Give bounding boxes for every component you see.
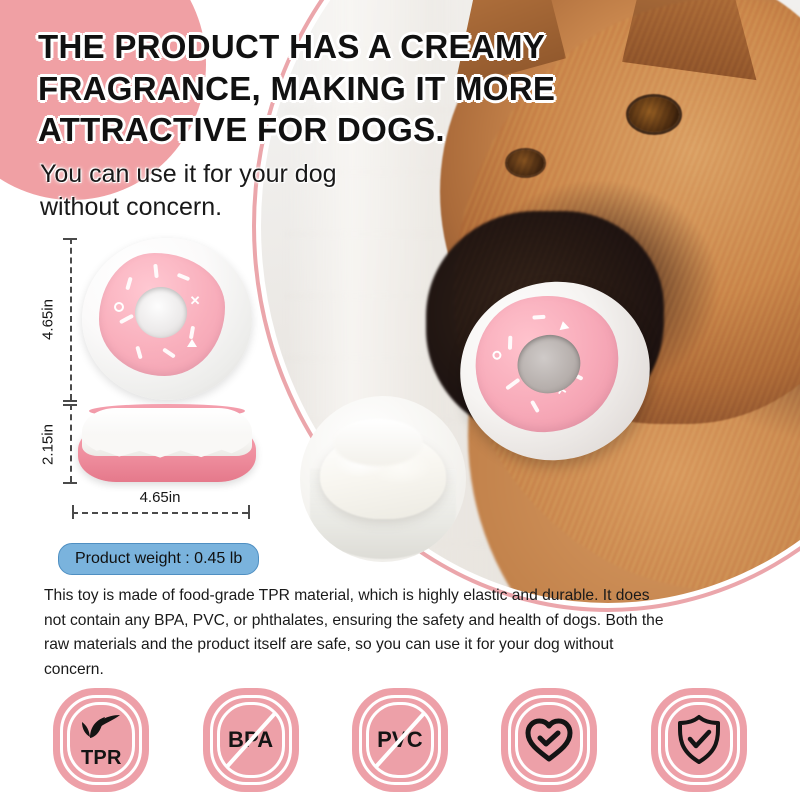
badge-label-tpr: TPR [81,748,122,768]
dim-cap-height-top [63,238,77,240]
cream-swirl-highlight [333,419,423,465]
badge-tpr: TPR [53,688,149,792]
dim-cap-height-bottom [63,400,77,402]
donut-toy-side-view [78,404,256,482]
heart-check-icon [524,717,574,763]
dim-label-height: 4.65in [40,290,57,350]
donut-toy-top-view: ✕ [82,238,252,400]
dim-line-depth [70,404,72,482]
leaf-icon [79,713,123,745]
dim-line-width [72,512,248,514]
dim-cap-width-left [72,505,74,519]
dim-cap-width-right [248,505,250,519]
dim-line-height [70,238,72,400]
product-weight-badge: Product weight : 0.45 lb [58,543,259,575]
dim-label-depth: 2.15in [40,415,57,475]
page-subtitle: You can use it for your dog without conc… [40,158,400,224]
badge-bpa-free: BPA [203,688,299,792]
product-infographic: ✕ THE PRODUCT HAS A CREAMY FRAGRANCE, MA… [0,0,800,800]
dim-label-width: 4.65in [72,489,248,506]
shield-check-icon [676,714,722,766]
badge-health-safe [501,688,597,792]
badge-quality-assured [651,688,747,792]
product-description: This toy is made of food-grade TPR mater… [44,584,664,683]
cream-photo-inset [300,396,466,562]
badge-pvc-free: PVC [352,688,448,792]
page-title: THE PRODUCT HAS A CREAMY FRAGRANCE, MAKI… [38,26,658,151]
dim-cap-depth-bottom [63,482,77,484]
certification-badge-row: TPR BPA PVC [0,684,800,796]
dim-cap-depth-top [63,404,77,406]
